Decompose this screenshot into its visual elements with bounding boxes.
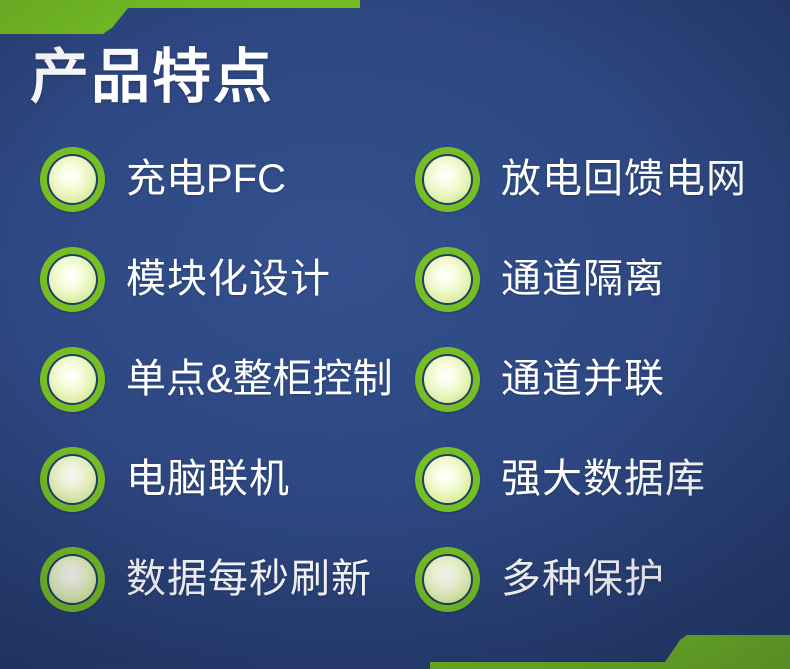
green-ring-bullet-icon [40,547,105,612]
page-title: 产品特点 [30,46,274,109]
green-ring-bullet-icon [415,347,480,412]
feature-label: 通道隔离 [501,259,665,299]
feature-label: 放电回馈电网 [501,159,747,199]
green-ring-bullet-icon [40,447,105,512]
chevron-shape-icon [0,0,360,34]
feature-item-multi-protection: 多种保护 [415,529,790,629]
feature-item-charge-pfc: 充电PFC [40,129,415,229]
product-features-poster: 产品特点 充电PFC 放电回馈电网 模块化设计 通道隔离 单点&整柜控制 通道并… [0,0,790,669]
feature-item-powerful-database: 强大数据库 [415,429,790,529]
green-ring-bullet-icon [40,347,105,412]
feature-label: 充电PFC [126,159,286,199]
feature-label: 通道并联 [501,359,665,399]
feature-label: 强大数据库 [501,459,706,499]
feature-label: 数据每秒刷新 [126,559,372,599]
feature-item-channel-isolation: 通道隔离 [415,229,790,329]
green-ring-bullet-icon [415,547,480,612]
chevron-shape-icon [430,635,790,669]
feature-label: 多种保护 [501,559,665,599]
feature-item-modular-design: 模块化设计 [40,229,415,329]
feature-item-single-rack-control: 单点&整柜控制 [40,329,415,429]
feature-label: 单点&整柜控制 [126,359,393,399]
green-ring-bullet-icon [415,147,480,212]
top-left-chevron-decoration [0,0,360,34]
feature-item-pc-connection: 电脑联机 [40,429,415,529]
feature-item-refresh-per-second: 数据每秒刷新 [40,529,415,629]
green-ring-bullet-icon [415,247,480,312]
feature-item-discharge-to-grid: 放电回馈电网 [415,129,790,229]
green-ring-bullet-icon [40,247,105,312]
green-ring-bullet-icon [415,447,480,512]
features-grid: 充电PFC 放电回馈电网 模块化设计 通道隔离 单点&整柜控制 通道并联 电脑联… [0,129,790,619]
bottom-right-chevron-decoration [430,635,790,669]
feature-item-channel-parallel: 通道并联 [415,329,790,429]
green-ring-bullet-icon [40,147,105,212]
feature-label: 模块化设计 [126,259,331,299]
feature-label: 电脑联机 [126,459,290,499]
